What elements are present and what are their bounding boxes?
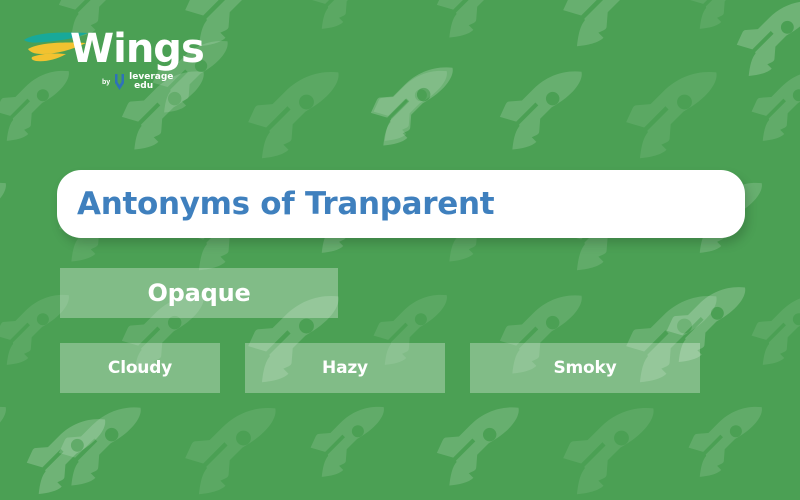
rocket-icon <box>749 290 800 376</box>
rocket-icon <box>24 414 116 500</box>
logo-sublogo: by leverage edu <box>102 72 173 92</box>
title-card: Antonyms of Tranparent <box>57 170 745 238</box>
rocket-icon <box>0 0 16 40</box>
rocket-icon <box>368 62 464 158</box>
answer-bar-secondary-3: Smoky <box>470 343 700 393</box>
rocket-icon <box>497 66 593 162</box>
answer-label-secondary-1: Cloudy <box>108 358 172 378</box>
page-title: Antonyms of Tranparent <box>57 186 494 222</box>
leverage-edu-mark-icon <box>114 72 125 92</box>
rocket-icon <box>308 0 394 40</box>
wings-logo: Wings by leverage edu <box>22 26 212 98</box>
answer-bar-secondary-1: Cloudy <box>60 343 220 393</box>
logo-wordmark: Wings <box>70 26 204 72</box>
logo-parent-line2: edu <box>129 82 173 91</box>
logo-parent-brand: leverage edu <box>129 73 173 91</box>
rocket-icon <box>560 0 666 60</box>
rocket-icon <box>623 66 729 172</box>
rocket-icon <box>0 402 16 488</box>
answer-bar-secondary-2: Hazy <box>245 343 445 393</box>
answer-label-secondary-3: Smoky <box>553 358 616 378</box>
rocket-icon <box>560 402 666 500</box>
answer-bar-primary: Opaque <box>60 268 338 318</box>
rocket-icon <box>734 0 800 88</box>
rocket-icon <box>434 0 530 50</box>
rocket-icon <box>182 402 288 500</box>
slide-canvas: Wings by leverage edu Antonyms of Tranpa… <box>0 0 800 500</box>
rocket-icon <box>308 402 394 488</box>
logo-by-label: by <box>102 79 110 86</box>
rocket-icon <box>686 402 772 488</box>
rocket-icon <box>0 178 16 264</box>
rocket-icon <box>245 66 351 172</box>
answer-label-primary: Opaque <box>147 279 250 307</box>
rocket-icon <box>56 402 152 498</box>
rocket-icon <box>434 402 530 498</box>
rocket-icon <box>686 0 772 40</box>
rocket-icon <box>371 66 457 152</box>
answer-label-secondary-2: Hazy <box>322 358 368 378</box>
rocket-icon <box>749 66 800 152</box>
